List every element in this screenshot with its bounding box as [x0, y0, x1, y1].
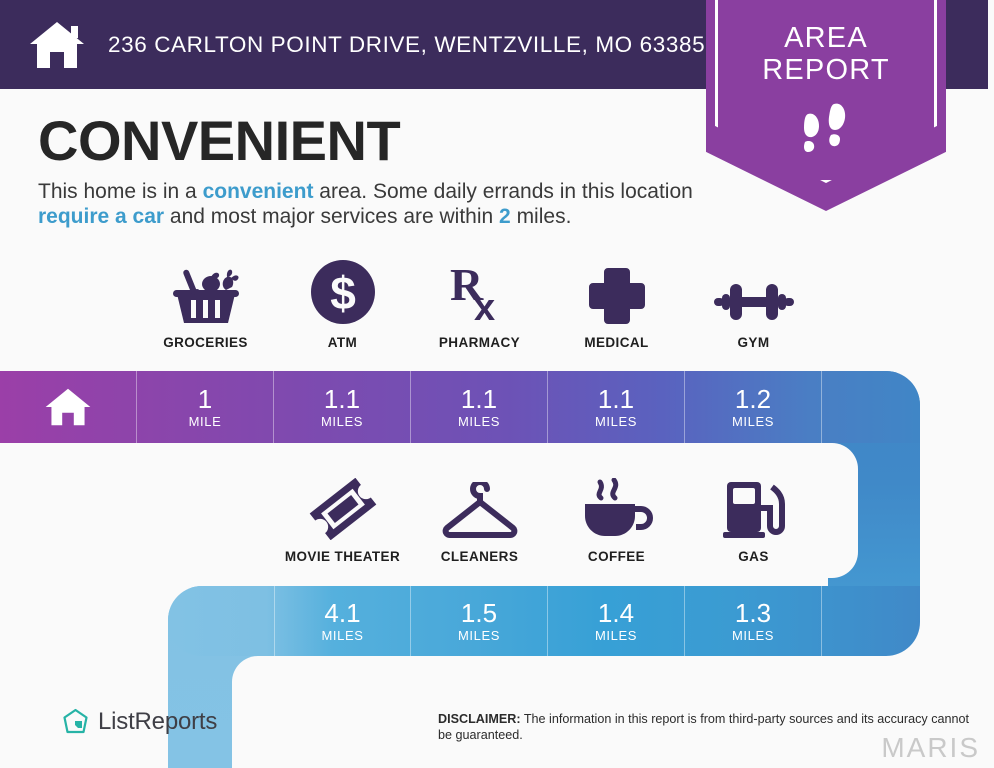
distance-cells-row-1: 1 MILE 1.1 MILES 1.1 MILES 1.1 MILES 1.2…	[0, 371, 822, 443]
area-report-badge: AREA REPORT	[706, 0, 946, 211]
listreports-logo: ListReports	[62, 708, 217, 736]
amenity-label: CLEANERS	[441, 549, 518, 564]
distance-cell-gym: 1.2 MILES	[685, 371, 822, 443]
groceries-basket-icon	[169, 268, 243, 326]
subtitle-highlight-3: 2	[499, 205, 511, 228]
distance-cell-pharmacy: 1.1 MILES	[411, 371, 548, 443]
gas-pump-icon	[721, 478, 787, 540]
distance-cell-coffee: 1.4 MILES	[548, 586, 685, 656]
amenity-label: COFFEE	[588, 549, 645, 564]
distance-cell-gas: 1.3 MILES	[685, 586, 822, 656]
home-icon	[44, 386, 92, 428]
distance-value: 1.1	[598, 386, 634, 413]
listreports-logo-text: ListReports	[98, 708, 217, 736]
amenity-medical: MEDICAL	[548, 264, 685, 350]
ribbon-connector-left-notch	[232, 656, 268, 768]
subtitle-part-2: area. Some daily errands in this locatio…	[313, 180, 692, 203]
distance-cell-atm: 1.1 MILES	[274, 371, 411, 443]
distance-value: 1.1	[461, 386, 497, 413]
atm-dollar-circle-icon: $	[309, 258, 377, 326]
svg-text:x: x	[474, 287, 495, 326]
distance-cell-medical: 1.1 MILES	[548, 371, 685, 443]
distance-unit: MILES	[732, 628, 774, 643]
amenity-movie-theater: MOVIE THEATER	[274, 478, 411, 564]
distance-unit: MILES	[458, 414, 500, 429]
amenity-label: GAS	[738, 549, 768, 564]
coffee-cup-icon	[579, 478, 655, 540]
distance-cell-groceries: 1 MILE	[137, 371, 274, 443]
subtitle-highlight-2: require a car	[38, 205, 164, 228]
amenity-label: PHARMACY	[439, 335, 520, 350]
area-report-page: 236 CARLTON POINT DRIVE, WENTZVILLE, MO …	[0, 0, 994, 768]
subtitle-part-3: and most major services are within	[164, 205, 499, 228]
amenity-label: MEDICAL	[584, 335, 648, 350]
svg-text:$: $	[330, 267, 356, 319]
amenity-icon-row-2: MOVIE THEATER CLEANERS COFFEE	[274, 478, 822, 564]
distance-unit: MILES	[595, 628, 637, 643]
amenity-label: GROCERIES	[163, 335, 248, 350]
subtitle-part-4: miles.	[511, 205, 572, 228]
distance-unit: MILES	[458, 628, 500, 643]
header-right-edge	[988, 0, 994, 89]
distance-unit: MILE	[189, 414, 222, 429]
amenity-label: MOVIE THEATER	[285, 549, 400, 564]
amenity-groceries: GROCERIES	[137, 264, 274, 350]
badge-line-1: AREA	[706, 22, 946, 54]
badge-title: AREA REPORT	[706, 22, 946, 86]
distance-value: 4.1	[324, 600, 360, 627]
distance-ribbon-row-1: 1 MILE 1.1 MILES 1.1 MILES 1.1 MILES 1.2…	[0, 371, 920, 443]
disclaimer-label: DISCLAIMER:	[438, 712, 521, 726]
property-address: 236 CARLTON POINT DRIVE, WENTZVILLE, MO …	[108, 32, 705, 58]
distance-ribbon-row-2: 4.1 MILES 1.5 MILES 1.4 MILES 1.3 MILES	[168, 586, 920, 656]
distance-cell-cleaners: 1.5 MILES	[411, 586, 548, 656]
distance-unit: MILES	[321, 628, 363, 643]
listreports-house-icon	[62, 708, 89, 736]
subtitle-highlight-1: convenient	[203, 180, 314, 203]
amenity-pharmacy: R x PHARMACY	[411, 264, 548, 350]
page-title: CONVENIENT	[38, 112, 400, 170]
gym-dumbbell-icon	[712, 278, 796, 326]
amenity-gas: GAS	[685, 478, 822, 564]
distance-unit: MILES	[321, 414, 363, 429]
amenity-coffee: COFFEE	[548, 478, 685, 564]
distance-unit: MILES	[732, 414, 774, 429]
pharmacy-rx-icon: R x	[448, 262, 512, 326]
amenity-atm: $ ATM	[274, 264, 411, 350]
page-subtitle: This home is in a convenient area. Some …	[38, 180, 718, 229]
medical-cross-icon	[587, 266, 647, 326]
footprints-icon	[794, 100, 858, 160]
distance-cells-row-2: 4.1 MILES 1.5 MILES 1.4 MILES 1.3 MILES	[274, 586, 822, 656]
maris-watermark: MARIS	[881, 732, 980, 764]
subtitle-part-1: This home is in a	[38, 180, 203, 203]
distance-value: 1.4	[598, 600, 634, 627]
amenity-cleaners: CLEANERS	[411, 478, 548, 564]
cleaners-hanger-icon	[439, 482, 521, 540]
distance-cell-movie-theater: 4.1 MILES	[274, 586, 411, 656]
distance-value: 1.5	[461, 600, 497, 627]
distance-unit: MILES	[595, 414, 637, 429]
distance-value: 1.1	[324, 386, 360, 413]
ribbon-home-cell	[0, 371, 137, 443]
amenity-gym: GYM	[685, 264, 822, 350]
ribbon-connector-right-notch	[820, 443, 858, 578]
distance-value: 1.3	[735, 600, 771, 627]
movie-ticket-icon	[308, 478, 378, 540]
distance-value: 1	[198, 386, 212, 413]
badge-line-2: REPORT	[706, 54, 946, 86]
amenity-label: ATM	[328, 335, 357, 350]
distance-value: 1.2	[735, 386, 771, 413]
home-icon	[28, 20, 86, 70]
amenity-label: GYM	[738, 335, 770, 350]
amenity-icon-row-1: GROCERIES $ ATM R x PHARMACY	[137, 264, 822, 350]
